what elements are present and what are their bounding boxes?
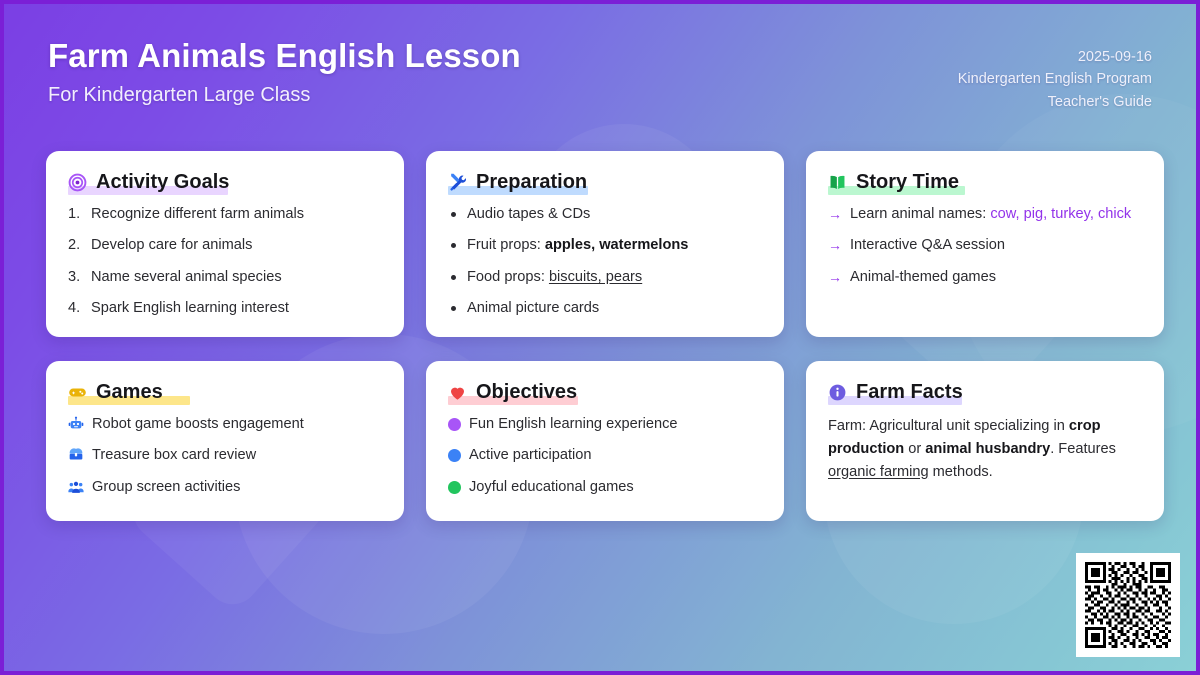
card-story-time: Story Time → Learn animal names: cow, pi… — [806, 151, 1164, 337]
item-text: Name several animal species — [91, 268, 282, 287]
card-header: Story Time — [828, 171, 1142, 193]
item-prefix: Fruit props: — [467, 237, 545, 253]
list-item: Audio tapes & CDs — [448, 205, 762, 224]
poster-header: Farm Animals English Lesson For Kinderga… — [4, 4, 1196, 144]
card-farm-facts: Farm Facts Farm: Agricultural unit speci… — [806, 361, 1164, 521]
preparation-list: Audio tapes & CDs Fruit props: apples, w… — [448, 205, 762, 318]
poster-canvas: Farm Animals English Lesson For Kinderga… — [0, 0, 1200, 675]
meta-program: Kindergarten English Program — [958, 68, 1152, 90]
list-item: Active participation — [448, 446, 762, 465]
text-fragment: or — [904, 441, 925, 457]
card-activity-goals: Activity Goals 1. Recognize different fa… — [46, 151, 404, 337]
text-fragment: methods. — [929, 464, 993, 480]
list-item: Fun English learning experience — [448, 415, 762, 434]
list-item: Group screen activities — [68, 478, 382, 497]
item-accent: cow, pig, turkey, chick — [990, 206, 1131, 222]
list-item: Fruit props: apples, watermelons — [448, 236, 762, 255]
arrow-icon: → — [828, 236, 842, 254]
cards-grid: Activity Goals 1. Recognize different fa… — [46, 151, 1164, 521]
gamepad-icon — [68, 383, 87, 402]
card-title: Story Time — [856, 171, 959, 193]
card-header: Activity Goals — [68, 171, 382, 193]
card-header: Preparation — [448, 171, 762, 193]
header-meta: 2025-09-16 Kindergarten English Program … — [958, 30, 1152, 113]
arrow-icon: → — [828, 268, 842, 286]
page-title: Farm Animals English Lesson — [48, 38, 521, 75]
card-objectives: Objectives Fun English learning experien… — [426, 361, 784, 521]
objectives-list: Fun English learning experience Active p… — [448, 415, 762, 497]
farm-facts-paragraph: Farm: Agricultural unit specializing in … — [828, 415, 1142, 483]
item-text: Joyful educational games — [469, 478, 634, 497]
card-title: Farm Facts — [856, 381, 963, 403]
games-list: Robot game boosts engagement Treasure bo… — [68, 415, 382, 497]
item-text: Animal-themed games — [850, 268, 996, 287]
text-underline: organic farming — [828, 464, 929, 480]
card-header: Farm Facts — [828, 381, 1142, 403]
item-text: Learn animal names: cow, pig, turkey, ch… — [850, 205, 1131, 224]
list-item: 3. Name several animal species — [68, 268, 382, 287]
item-text: Interactive Q&A session — [850, 236, 1005, 255]
bullet-dot — [451, 306, 456, 311]
text-fragment: . Features — [1050, 441, 1116, 457]
list-item: Joyful educational games — [448, 478, 762, 497]
heart-icon — [448, 383, 467, 402]
item-text: Food props: biscuits, pears — [467, 268, 642, 287]
item-number: 2. — [68, 236, 83, 255]
bullet-dot — [451, 212, 456, 217]
status-dot — [448, 418, 461, 431]
arrow-icon: → — [828, 205, 842, 223]
list-item: → Interactive Q&A session — [828, 236, 1142, 255]
open-book-icon — [828, 173, 847, 192]
page-subtitle: For Kindergarten Large Class — [48, 84, 521, 107]
list-item: 2. Develop care for animals — [68, 236, 382, 255]
qr-code[interactable] — [1076, 553, 1180, 657]
text-bold: animal husbandry — [925, 441, 1050, 457]
list-item: Animal picture cards — [448, 299, 762, 318]
item-text: Active participation — [469, 446, 592, 465]
card-header: Objectives — [448, 381, 762, 403]
item-text: Robot game boosts engagement — [92, 415, 304, 434]
card-title: Objectives — [476, 381, 577, 403]
target-icon — [68, 173, 87, 192]
card-title: Activity Goals — [96, 171, 229, 193]
bullet-dot — [451, 243, 456, 248]
item-text: Audio tapes & CDs — [467, 205, 590, 224]
item-prefix: Learn animal names: — [850, 206, 990, 222]
title-block: Farm Animals English Lesson For Kinderga… — [48, 30, 521, 107]
story-list: → Learn animal names: cow, pig, turkey, … — [828, 205, 1142, 287]
info-icon — [828, 383, 847, 402]
list-item: → Learn animal names: cow, pig, turkey, … — [828, 205, 1142, 224]
list-item: → Animal-themed games — [828, 268, 1142, 287]
list-item: Food props: biscuits, pears — [448, 268, 762, 287]
robot-icon — [68, 416, 84, 432]
item-text: Fruit props: apples, watermelons — [467, 236, 688, 255]
goals-list: 1. Recognize different farm animals 2. D… — [68, 205, 382, 318]
list-item: 1. Recognize different farm animals — [68, 205, 382, 224]
card-title: Games — [96, 381, 163, 403]
item-prefix: Food props: — [467, 269, 549, 285]
item-text: Recognize different farm animals — [91, 205, 304, 224]
card-games: Games Robot game boosts engagement — [46, 361, 404, 521]
card-title: Preparation — [476, 171, 587, 193]
item-number: 4. — [68, 299, 83, 318]
meta-date: 2025-09-16 — [958, 46, 1152, 68]
card-preparation: Preparation Audio tapes & CDs Fruit prop… — [426, 151, 784, 337]
item-bold: apples, watermelons — [545, 237, 689, 253]
treasure-box-icon — [68, 447, 84, 463]
group-people-icon — [68, 479, 84, 495]
item-text: Group screen activities — [92, 478, 240, 497]
text-fragment: Farm: Agricultural unit specializing in — [828, 418, 1069, 434]
tools-icon — [448, 173, 467, 192]
list-item: 4. Spark English learning interest — [68, 299, 382, 318]
item-underline: biscuits, pears — [549, 269, 642, 285]
item-text: Animal picture cards — [467, 299, 599, 318]
item-text: Fun English learning experience — [469, 415, 678, 434]
item-text: Treasure box card review — [92, 446, 256, 465]
bullet-dot — [451, 275, 456, 280]
status-dot — [448, 449, 461, 462]
qr-code-image — [1085, 562, 1171, 648]
list-item: Treasure box card review — [68, 446, 382, 465]
item-text: Spark English learning interest — [91, 299, 289, 318]
item-number: 3. — [68, 268, 83, 287]
item-number: 1. — [68, 205, 83, 224]
card-header: Games — [68, 381, 382, 403]
item-text: Develop care for animals — [91, 236, 252, 255]
list-item: Robot game boosts engagement — [68, 415, 382, 434]
meta-doc-type: Teacher's Guide — [958, 91, 1152, 113]
status-dot — [448, 481, 461, 494]
